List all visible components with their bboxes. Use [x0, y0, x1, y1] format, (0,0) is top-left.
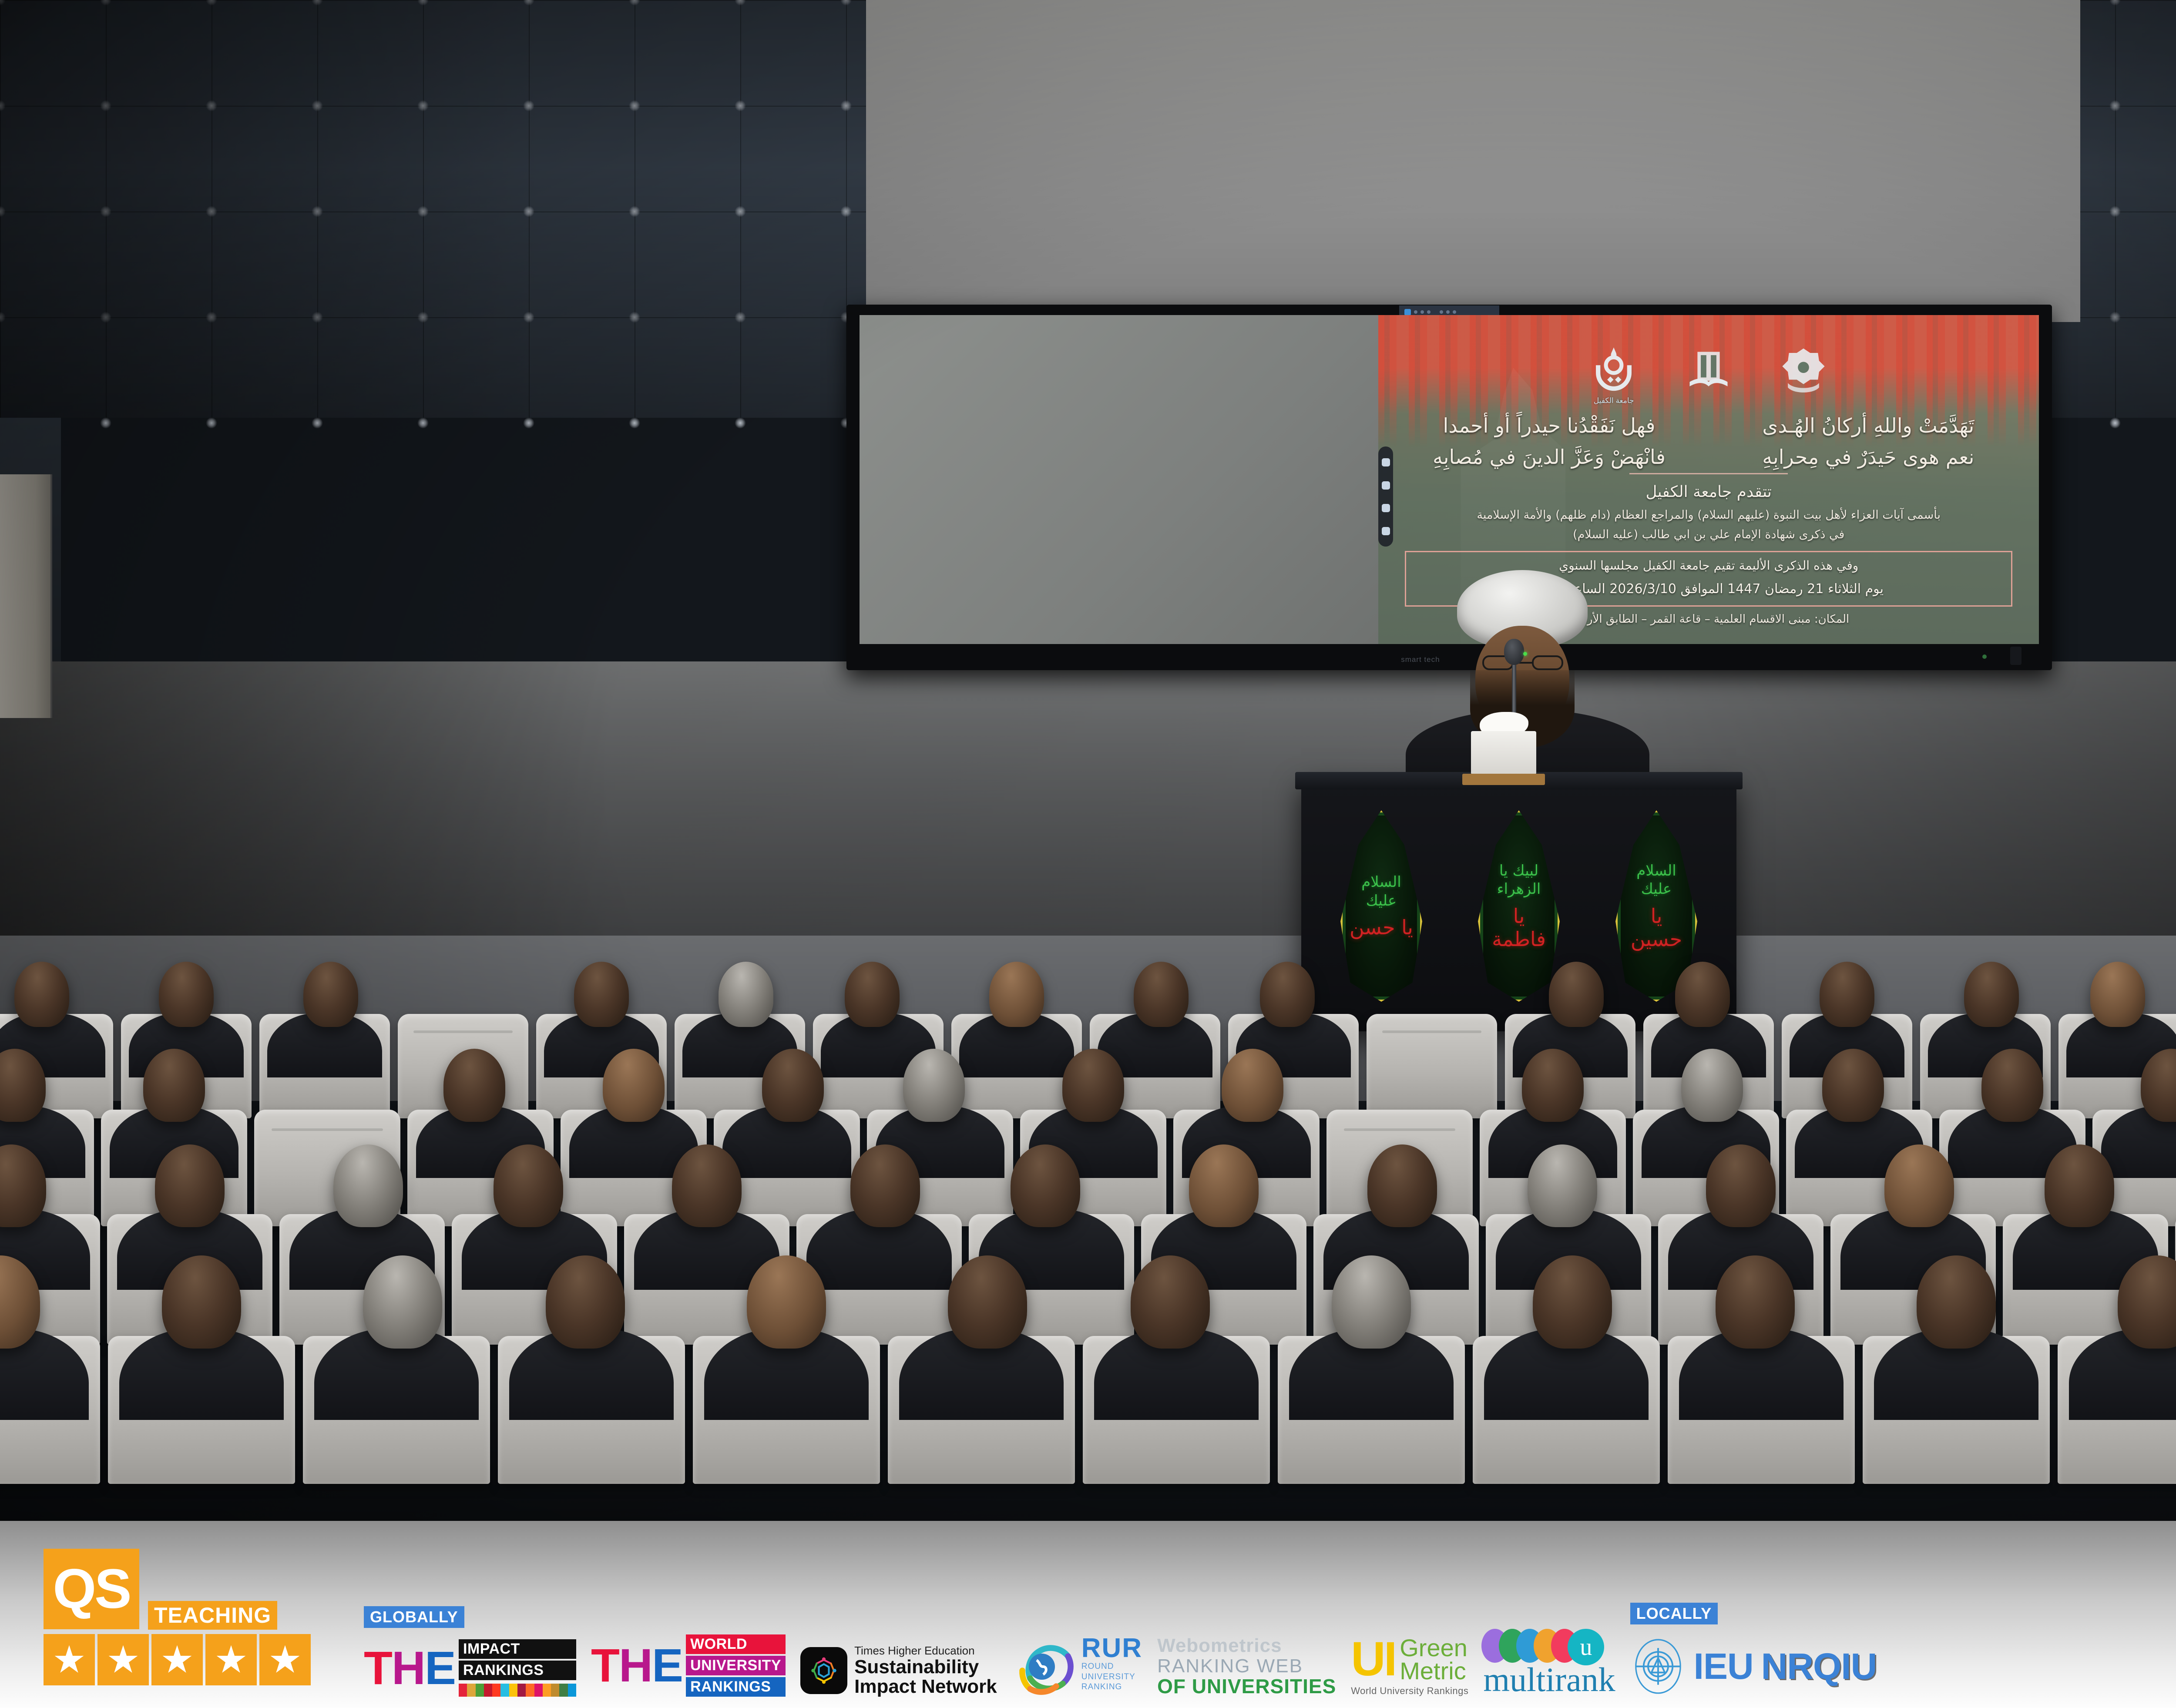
poem-line-1: تَهَدَّمَتْ واللهِ أركانُ الهُـدى: [1717, 410, 2019, 441]
audience-person-head: [1260, 962, 1315, 1027]
nrqiu-wordmark: NRQIU: [1761, 1645, 1877, 1688]
poem-line-3: فهل نَفَقْدُنا حيدراً أو أحمدا: [1398, 410, 1700, 441]
ieu-wordmark: IEU: [1694, 1645, 1753, 1688]
audience-person-head: [747, 1255, 826, 1349]
the-wordmark: THE: [591, 1646, 682, 1685]
local-accreditation-group: LOCALLY: [1630, 1603, 1877, 1697]
slide-logo-row: جامعة الكفيل: [1378, 338, 2039, 403]
audience-person-head: [1332, 1255, 1411, 1349]
audience-person-head: [1189, 1144, 1259, 1227]
qs-star: [44, 1634, 95, 1685]
the-wur-tag-2: UNIVERSITY: [686, 1656, 786, 1675]
microphone-head: [1504, 639, 1524, 665]
footer-bar: QS TEACHING GLOBALLY THE IMPACT RANKINGS: [0, 1521, 2176, 1708]
audience-person-head: [333, 1144, 403, 1227]
qs-subject-label: TEACHING: [148, 1601, 277, 1630]
audience-person-head: [1062, 1049, 1124, 1122]
sus-line-2: Sustainability: [854, 1658, 997, 1677]
multirank-u-mark: u: [1568, 1629, 1604, 1665]
impact-network-hexagon-icon: [800, 1647, 847, 1694]
the-world-university-rankings-logo: THE WORLD UNIVERSITY RANKINGS: [591, 1634, 786, 1697]
u-multirank-logo: u multirank: [1483, 1629, 1615, 1697]
auditorium-photo: الله أكبر: [0, 0, 2176, 1708]
audience-person-head: [719, 962, 773, 1027]
audience-person-head: [14, 962, 69, 1027]
audience-seating: [0, 883, 2176, 1519]
display-side-toolbar[interactable]: [1378, 446, 1393, 547]
round-university-ranking-logo: RUR ROUND UNIVERSITY RANKING: [1012, 1631, 1142, 1697]
slide-body-line-2: في ذكرى شهادة الإمام علي بن ابي طالب (عل…: [1405, 525, 2012, 545]
microphone-led: [1523, 652, 1527, 656]
ui-greenmetric-logo: UI Green Metric World University Ranking…: [1351, 1636, 1468, 1697]
note-icon[interactable]: [1382, 504, 1390, 512]
rur-sub-3: RANKING: [1081, 1682, 1142, 1692]
audience-person-head: [1367, 1144, 1437, 1227]
audience-person-head: [1964, 962, 2019, 1027]
uig-green: Green: [1400, 1636, 1467, 1660]
slide-logo-higher-education-seal: [1776, 338, 1831, 403]
audience-person-head: [1011, 1144, 1080, 1227]
slide-body-line-1: بأسمى آيات العزاء لأهل بيت النبوة (عليهم…: [1405, 505, 2012, 525]
audience-person-head: [162, 1255, 241, 1349]
the-wordmark: THE: [364, 1649, 455, 1688]
multirank-wordmark: multirank: [1483, 1663, 1615, 1697]
audience-person-head: [1522, 1049, 1584, 1122]
uig-ui-mark: UI: [1351, 1640, 1395, 1678]
qs-star: [97, 1634, 149, 1685]
slide-poetry: تَهَدَّمَتْ واللهِ أركانُ الهُـدى نعم هو…: [1398, 410, 2019, 473]
audience-person-head: [1884, 1144, 1954, 1227]
webometrics-logo: Webometrics RANKING WEB OF UNIVERSITIES: [1157, 1635, 1336, 1697]
audience-person-head: [1820, 962, 1874, 1027]
qs-stars-rating: QS TEACHING: [17, 1540, 353, 1697]
audience-person-head: [948, 1255, 1027, 1349]
webometrics-line-2: RANKING WEB: [1157, 1657, 1303, 1676]
audience-person-head: [762, 1049, 824, 1122]
audience-person-head: [672, 1144, 742, 1227]
slide-logo-ministry-book: [1681, 338, 1736, 403]
uig-subtitle: World University Rankings: [1351, 1685, 1468, 1697]
whiteboard-area[interactable]: [860, 315, 1378, 644]
audience-person-head: [1716, 1255, 1795, 1349]
poem-line-2: نعم هوى حَيدَرٌ في مِحرابِهِ: [1717, 442, 2019, 473]
audience-person-head: [603, 1049, 665, 1122]
audience-person-head: [303, 962, 358, 1027]
slide-logo-university-of-alkafeel: جامعة الكفيل: [1586, 338, 1642, 403]
audience-person-head: [1675, 962, 1730, 1027]
rur-globe-swoosh-icon: [1012, 1631, 1077, 1697]
audience-person-head: [443, 1049, 505, 1122]
rur-sub-2: UNIVERSITY: [1081, 1672, 1142, 1682]
audience-person-head: [494, 1144, 563, 1227]
sus-line-3: Impact Network: [854, 1677, 997, 1697]
qs-star-row: [44, 1634, 311, 1685]
audience-person-head: [143, 1049, 205, 1122]
uig-metric: Metric: [1400, 1659, 1467, 1683]
qs-logo: QS: [44, 1549, 139, 1629]
screen-recess-panel: [866, 0, 2080, 322]
globally-badge: GLOBALLY: [364, 1606, 464, 1628]
audience-person-head: [155, 1144, 225, 1227]
audience-person-head: [1981, 1049, 2043, 1122]
audience-person-head: [1528, 1144, 1597, 1227]
qs-star: [151, 1634, 203, 1685]
audience-person-head: [1917, 1255, 1996, 1349]
screen-share-icon[interactable]: [1382, 458, 1390, 466]
audience-person-head: [845, 962, 900, 1027]
audience-person-head: [1131, 1255, 1210, 1349]
webometrics-line-3: OF UNIVERSITIES: [1157, 1676, 1336, 1697]
audience-person-head: [574, 962, 629, 1027]
the-impact-rankings-logo: GLOBALLY THE IMPACT RANKINGS: [364, 1606, 576, 1697]
poem-column-left: فهل نَفَقْدُنا حيدراً أو أحمدا فانْهَضْ …: [1398, 410, 1700, 473]
audience-person-head: [1134, 962, 1189, 1027]
audience-person-head: [546, 1255, 625, 1349]
sus-line-1: Times Higher Education: [854, 1644, 997, 1658]
display-app-icon: [1404, 309, 1411, 315]
slide-divider: [1629, 473, 1788, 474]
audience-person-head: [1822, 1049, 1884, 1122]
audience-person-head: [1222, 1049, 1283, 1122]
webometrics-line-1: Webometrics: [1157, 1635, 1282, 1657]
audience-person-head: [2045, 1144, 2114, 1227]
audience-person-head: [363, 1255, 442, 1349]
slide-logo-caption: جامعة الكفيل: [1594, 396, 1634, 405]
poem-line-4: فانْهَضْ وَعَزَّ الدينَ في مُصابِهِ: [1398, 442, 1700, 473]
menu-icon[interactable]: [1382, 527, 1390, 535]
audience-person-head: [1533, 1255, 1612, 1349]
multirank-dot-row: u: [1491, 1629, 1604, 1665]
the-impact-tag-2: RANKINGS: [459, 1661, 576, 1680]
the-wur-tag-1: WORLD: [686, 1634, 786, 1654]
audience-person-head: [2090, 962, 2145, 1027]
audience-person-head: [903, 1049, 965, 1122]
audience-person-head: [159, 962, 214, 1027]
poem-column-right: تَهَدَّمَتْ واللهِ أركانُ الهُـدى نعم هو…: [1717, 410, 2019, 473]
tissue-box-base: [1462, 774, 1545, 785]
audience-seat: [1367, 1014, 1497, 1118]
audience-person-head: [1549, 962, 1604, 1027]
audience-person-head: [1681, 1049, 1743, 1122]
display-ir-sensor: [2010, 647, 2022, 665]
slide-presenter-line: تتقدم جامعة الكفيل: [1405, 483, 2012, 501]
ranking-logos: GLOBALLY THE IMPACT RANKINGS: [364, 1603, 2176, 1697]
audience-person-head: [1706, 1144, 1776, 1227]
side-door: [0, 474, 52, 718]
pen-icon[interactable]: [1382, 481, 1390, 490]
qs-star: [205, 1634, 257, 1685]
rur-acronym: RUR: [1081, 1636, 1142, 1661]
qs-star: [259, 1634, 311, 1685]
display-power-led: [1982, 654, 1987, 659]
the-impact-tag-1: IMPACT: [459, 1639, 576, 1659]
the-wur-tag-3: RANKINGS: [686, 1677, 786, 1697]
audience-person-head: [850, 1144, 920, 1227]
tissue-box: [1471, 731, 1536, 775]
locally-badge: LOCALLY: [1630, 1603, 1718, 1624]
sustainability-impact-network-logo: Times Higher Education Sustainability Im…: [800, 1644, 997, 1697]
ieu-seal-icon: [1630, 1636, 1686, 1697]
sdg-color-bar: [459, 1684, 576, 1697]
audience-person-head: [989, 962, 1044, 1027]
